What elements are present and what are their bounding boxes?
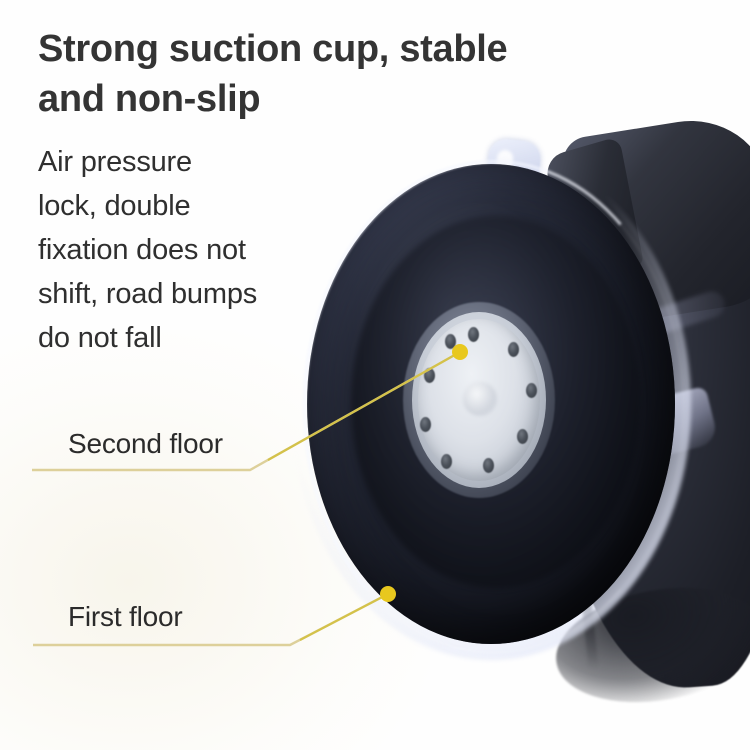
product-feature-image: Strong suction cup, stable and non-slip … — [0, 0, 750, 750]
vent-hole — [508, 342, 519, 357]
vent-hole — [424, 368, 435, 383]
product-photo — [255, 120, 750, 690]
callout-label-first-floor: First floor — [68, 601, 182, 633]
vent-hole — [445, 334, 456, 349]
callout-label-second-floor: Second floor — [68, 428, 223, 460]
vent-hole — [517, 429, 528, 444]
vent-hole — [483, 458, 494, 473]
vent-hole — [526, 383, 537, 398]
description-text: Air pressure lock, double fixation does … — [38, 140, 328, 360]
page-title: Strong suction cup, stable and non-slip — [38, 24, 638, 124]
vent-hole — [468, 327, 479, 342]
inner-disc-center-dimple — [463, 382, 497, 416]
vent-hole — [441, 454, 452, 469]
vent-hole — [420, 417, 431, 432]
